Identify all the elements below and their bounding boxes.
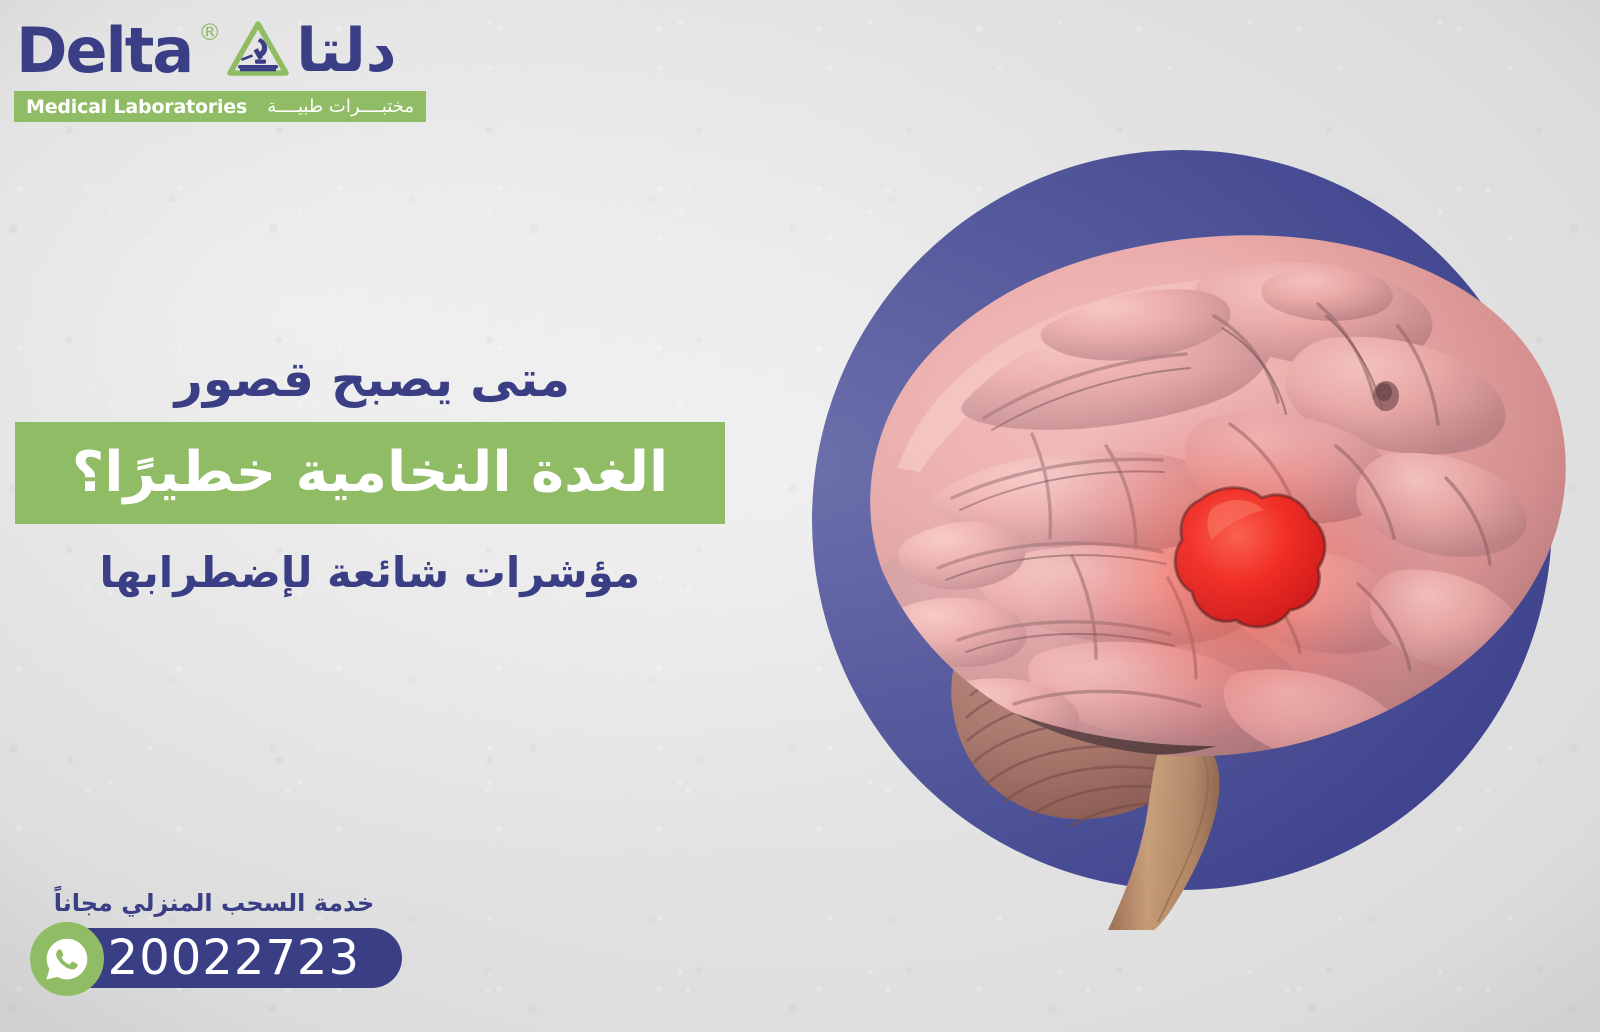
logo-top-row: Delta ® دلتا [14, 14, 426, 88]
headline-block: متى يصبح قصور الغدة النخامية خطيرًا؟ مؤش… [0, 350, 760, 600]
contact-row[interactable]: 920022723 [18, 922, 418, 994]
microscope-in-triangle-icon [226, 21, 290, 81]
headline-highlight-banner: الغدة النخامية خطيرًا؟ [15, 422, 725, 524]
brand-logo[interactable]: Delta ® دلتا Medical Laborato [14, 14, 426, 122]
headline-line-2: الغدة النخامية خطيرًا؟ [72, 442, 668, 504]
home-service-note: خدمة السحب المنزلي مجاناً [18, 888, 418, 918]
brain-illustration [770, 100, 1600, 930]
whatsapp-icon[interactable] [30, 922, 104, 996]
poster-canvas: Delta ® دلتا Medical Laborato [0, 0, 1600, 1032]
registered-trademark-icon: ® [198, 20, 221, 46]
contact-block: خدمة السحب المنزلي مجاناً 920022723 [18, 888, 418, 994]
logo-tagline-bar: Medical Laboratories مختبــــرات طبيــــ… [14, 91, 426, 122]
phone-number: 920022723 [76, 933, 360, 983]
headline-subtitle: مؤشرات شائعة لإضطرابها [0, 546, 760, 600]
logo-tagline-ar: مختبــــرات طبيــــة [267, 96, 414, 117]
logo-wordmark-ar: دلتا [296, 21, 396, 81]
logo-tagline-en: Medical Laboratories [26, 96, 247, 118]
headline-line-1: متى يصبح قصور [0, 350, 760, 410]
logo-wordmark-en: Delta [16, 20, 192, 82]
pituitary-lesion [1175, 488, 1325, 627]
